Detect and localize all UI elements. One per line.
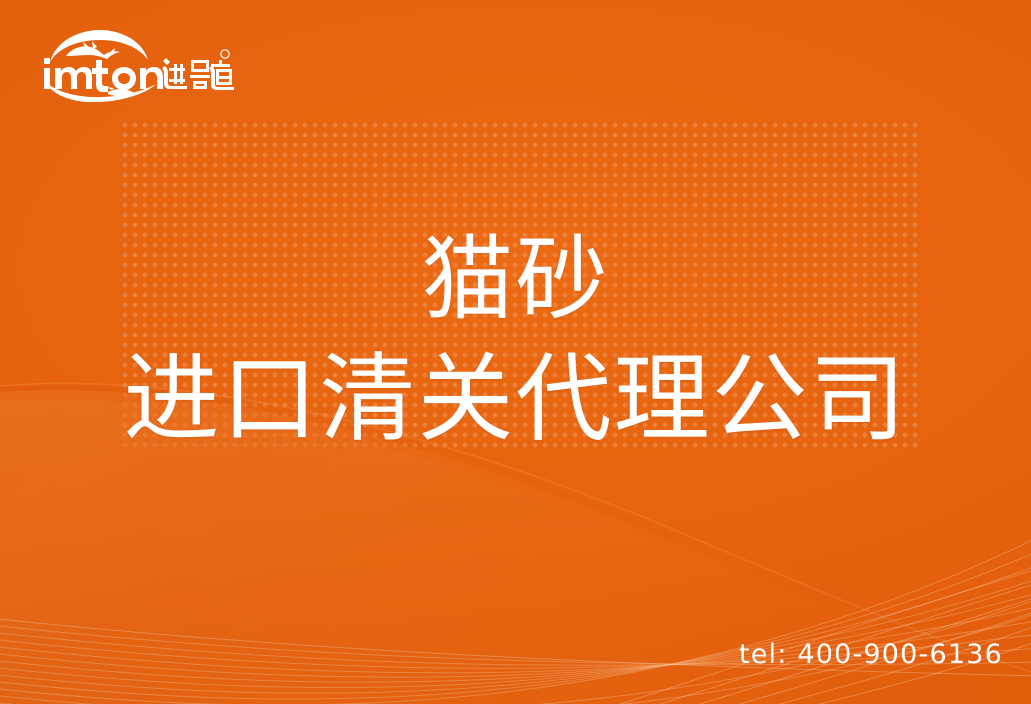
trademark-icon (221, 50, 229, 58)
promo-banner: 猫砂 进口清关代理公司 tel: 400-900-6136 (0, 0, 1031, 704)
wordmark-chinese (162, 58, 234, 90)
contact-phone[interactable]: tel: 400-900-6136 (739, 639, 1003, 670)
page-title: 猫砂 进口清关代理公司 (0, 226, 1031, 456)
headline-line-2: 进口清关代理公司 (0, 343, 1031, 456)
globe-arc-icon (50, 30, 148, 62)
headline-line-1: 猫砂 (0, 226, 1031, 335)
wordmark-latin (44, 58, 163, 92)
brand-logo[interactable] (36, 26, 236, 102)
